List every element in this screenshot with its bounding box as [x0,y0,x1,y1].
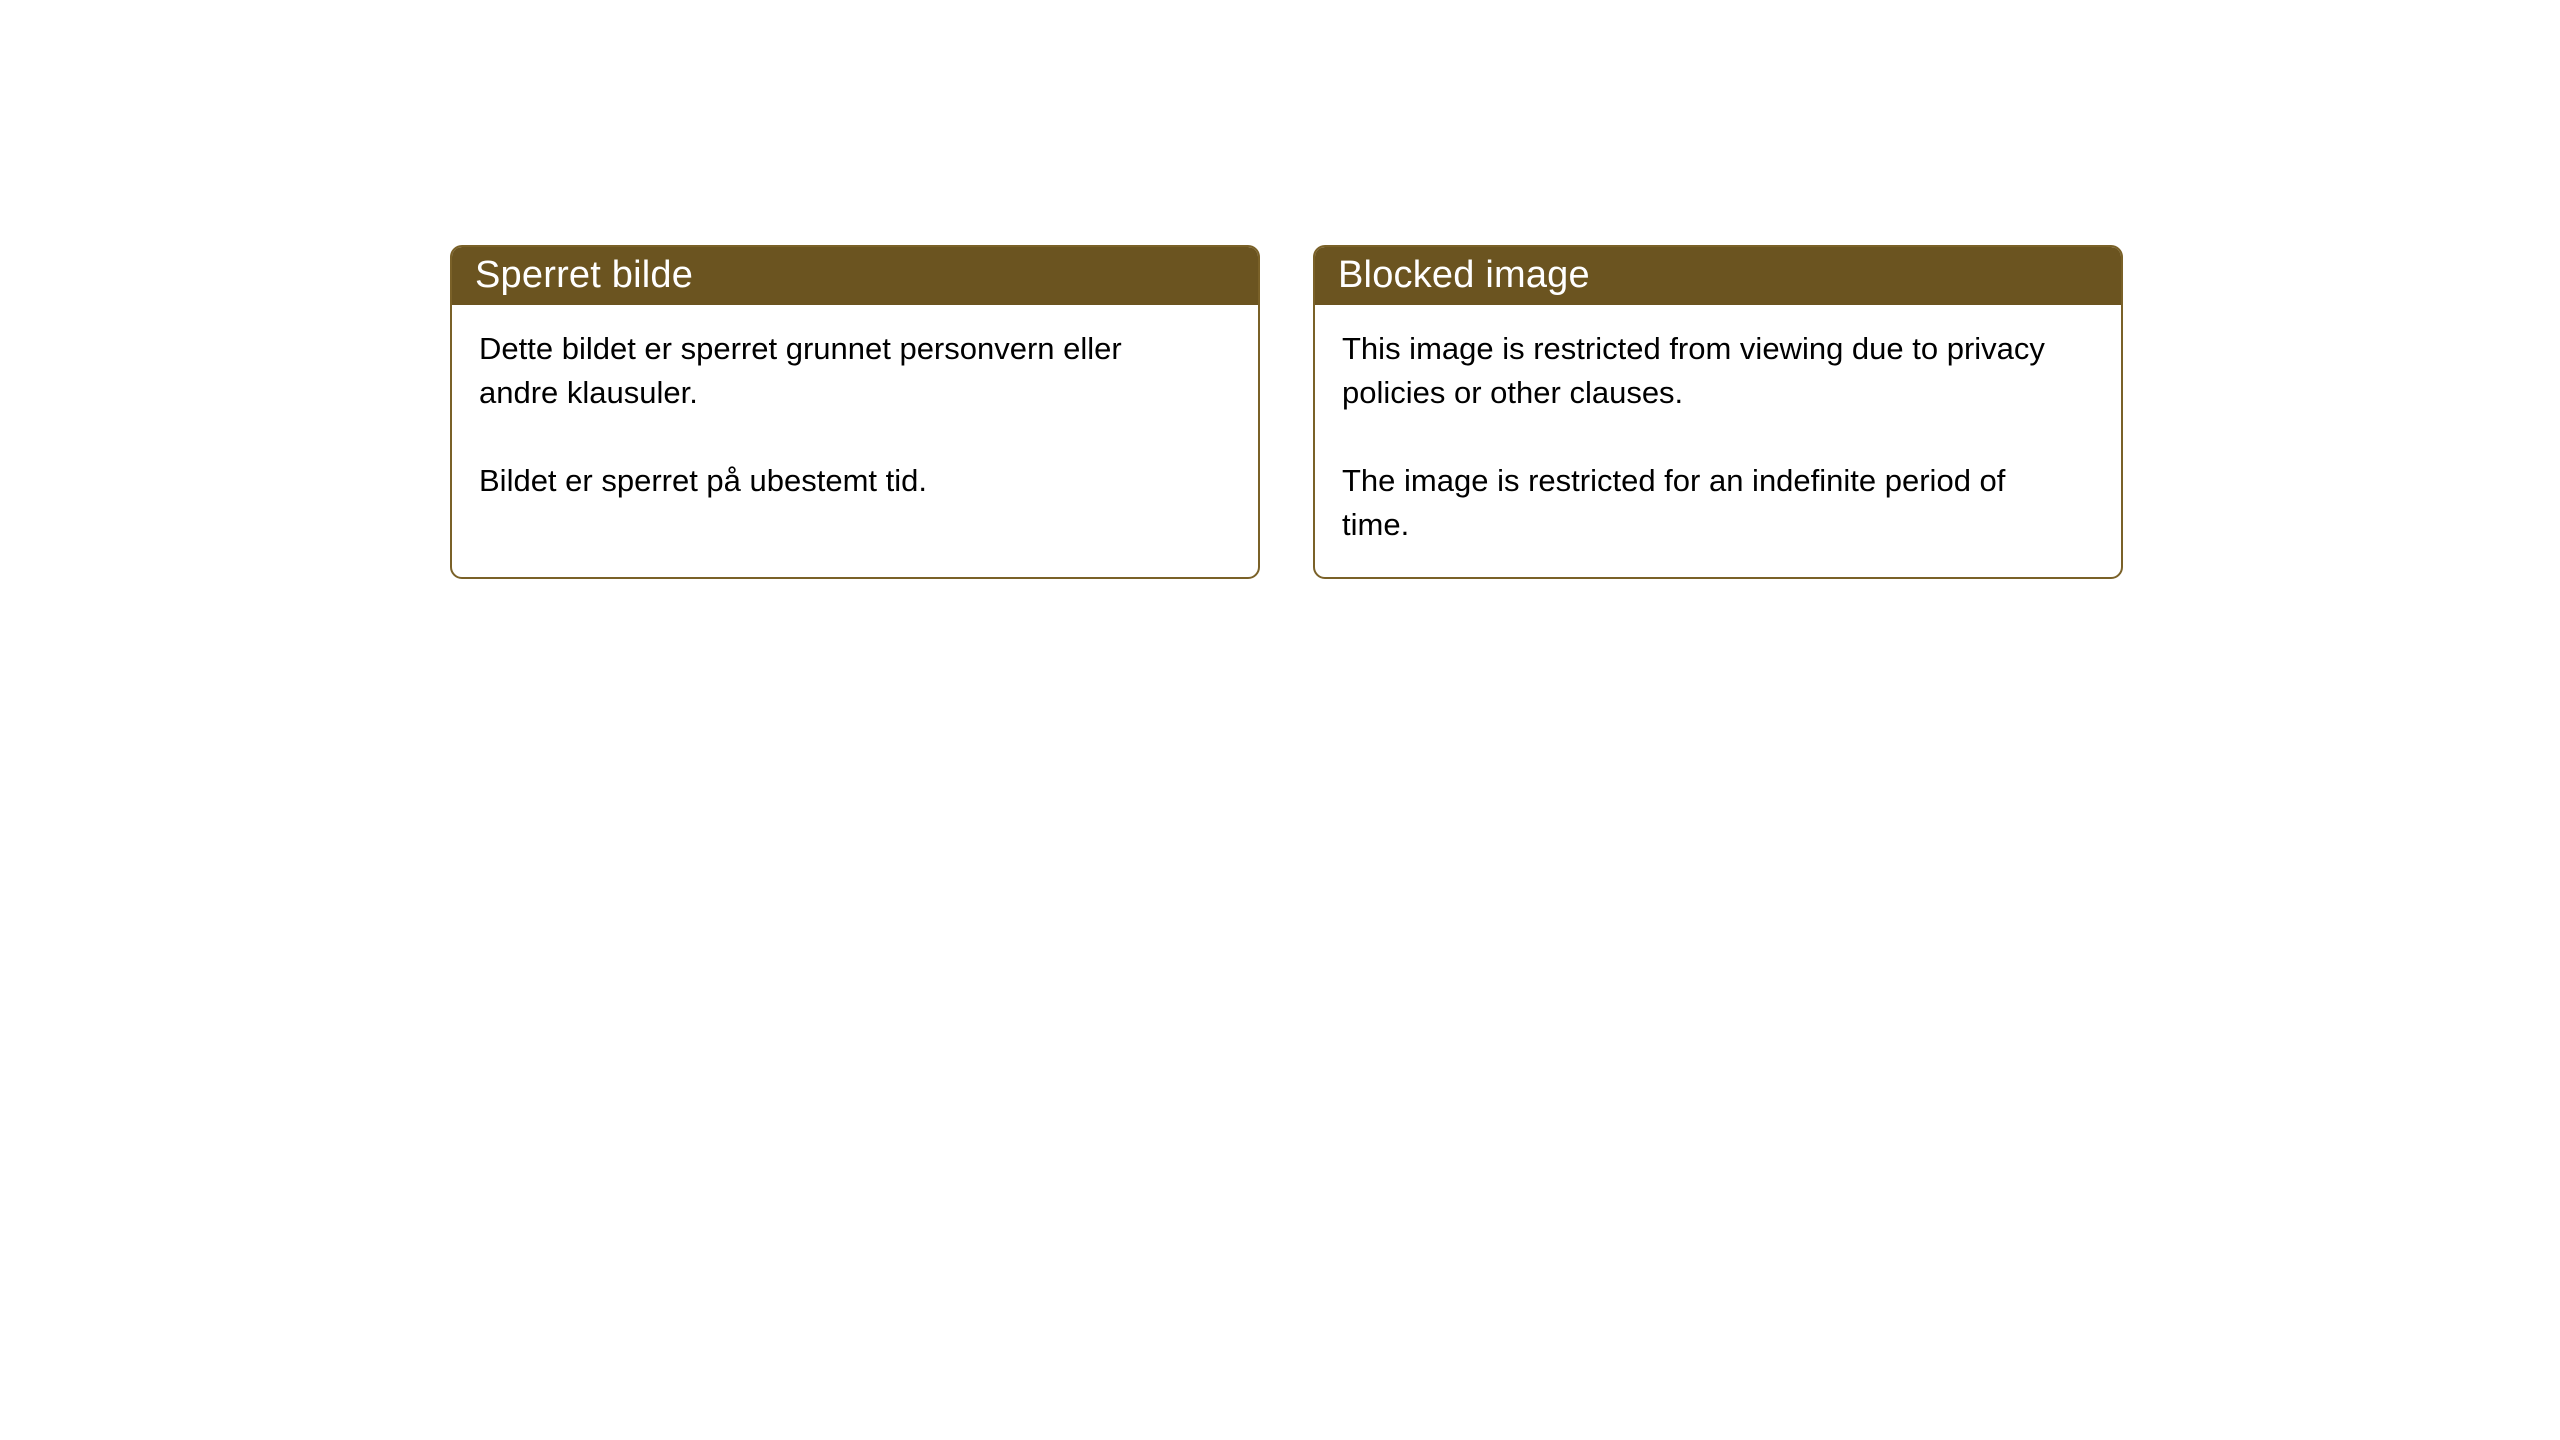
card-body-norwegian: Dette bildet er sperret grunnet personve… [452,305,1258,577]
card-title-english: Blocked image [1338,256,1590,294]
card-paragraph-primary-norwegian: Dette bildet er sperret grunnet personve… [479,327,1184,415]
card-header-norwegian: Sperret bilde [450,245,1260,305]
card-title-norwegian: Sperret bilde [475,256,693,294]
card-paragraph-secondary-english: The image is restricted for an indefinit… [1342,459,2047,547]
paragraph-spacer [1342,415,2095,459]
card-paragraph-secondary-norwegian: Bildet er sperret på ubestemt tid. [479,459,1184,503]
card-paragraph-primary-english: This image is restricted from viewing du… [1342,327,2047,415]
blocked-image-notice-card-norwegian: Sperret bilde Dette bildet er sperret gr… [450,245,1260,579]
card-body-english: This image is restricted from viewing du… [1315,305,2121,577]
paragraph-spacer [479,415,1232,459]
blocked-image-notice-card-english: Blocked image This image is restricted f… [1313,245,2123,579]
card-header-english: Blocked image [1313,245,2123,305]
page-root: Sperret bilde Dette bildet er sperret gr… [0,0,2560,1440]
